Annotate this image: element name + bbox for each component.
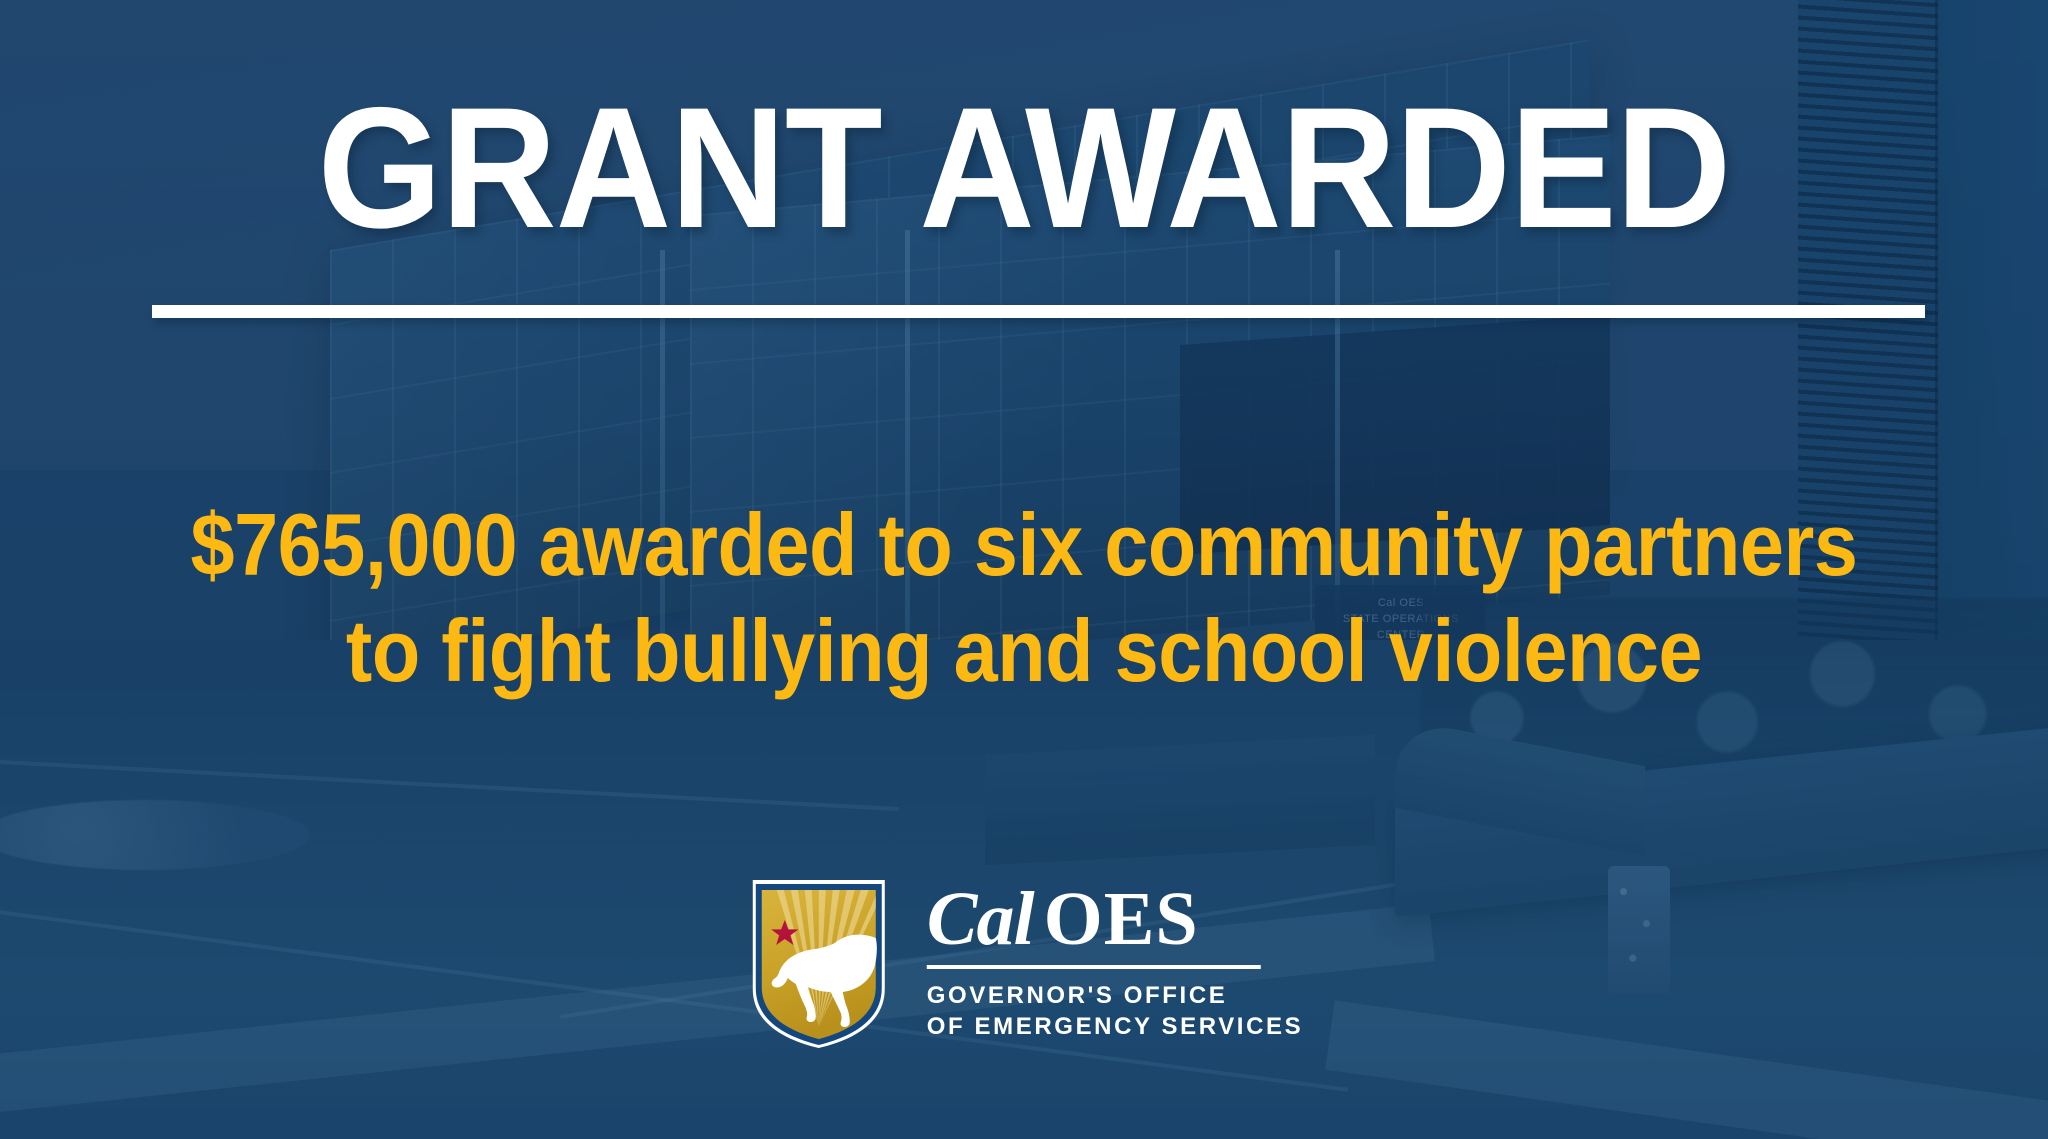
foreground-content: GRANT AWARDED $765,000 awarded to six co… <box>0 0 2048 1139</box>
agency-tagline: GOVERNOR'S OFFICE OF EMERGENCY SERVICES <box>927 980 1303 1042</box>
cal-oes-logo-lockup: CalOES GOVERNOR'S OFFICE OF EMERGENCY SE… <box>745 876 1303 1048</box>
wordmark-divider <box>927 965 1261 969</box>
tagline-line-2: OF EMERGENCY SERVICES <box>927 1011 1303 1042</box>
subtitle-line-2: to fight bullying and school violence <box>102 598 1945 704</box>
brand-name: CalOES <box>927 882 1303 956</box>
subtitle-block: $765,000 awarded to six community partne… <box>102 492 1945 703</box>
tagline-line-1: GOVERNOR'S OFFICE <box>927 980 1303 1011</box>
subtitle-line-1: $765,000 awarded to six community partne… <box>102 492 1945 598</box>
cal-oes-wordmark: CalOES GOVERNOR'S OFFICE OF EMERGENCY SE… <box>927 882 1303 1043</box>
graphic-canvas: Cal OES STATE OPERATIONS CENTER GRANT AW… <box>0 0 2048 1139</box>
brand-cal: Cal <box>927 877 1034 961</box>
brand-oes: OES <box>1044 877 1199 961</box>
california-bear-shield-icon <box>745 876 893 1048</box>
title-divider-rule <box>152 305 1925 318</box>
page-title: GRANT AWARDED <box>72 82 1977 254</box>
